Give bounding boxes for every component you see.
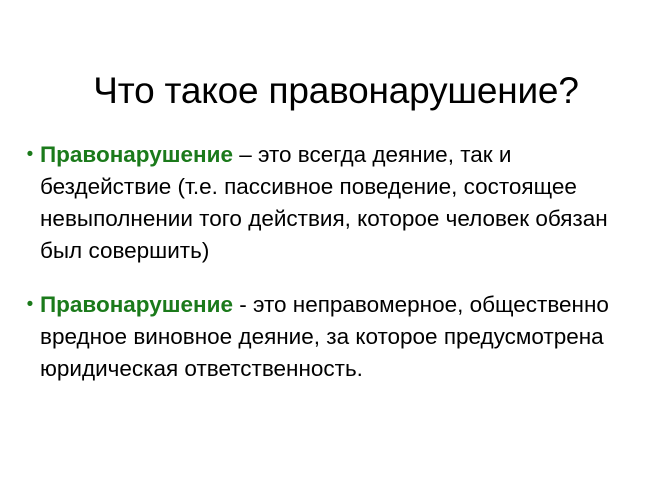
list-item: •Правонарушение - это неправомерное, общ… [18, 289, 628, 385]
presentation-slide: Что такое правонарушение? •Правонарушени… [0, 0, 672, 504]
list-item: •Правонарушение – это всегда деяние, так… [18, 139, 628, 267]
bullet-point-icon: • [23, 289, 37, 321]
bullet-term-highlight: Правонарушение [40, 292, 233, 317]
page-title: Что такое правонарушение? [0, 69, 672, 113]
slide-body-content: •Правонарушение – это всегда деяние, так… [18, 116, 628, 408]
bullet-point-icon: • [23, 139, 37, 171]
bullet-term-highlight: Правонарушение [40, 142, 233, 167]
